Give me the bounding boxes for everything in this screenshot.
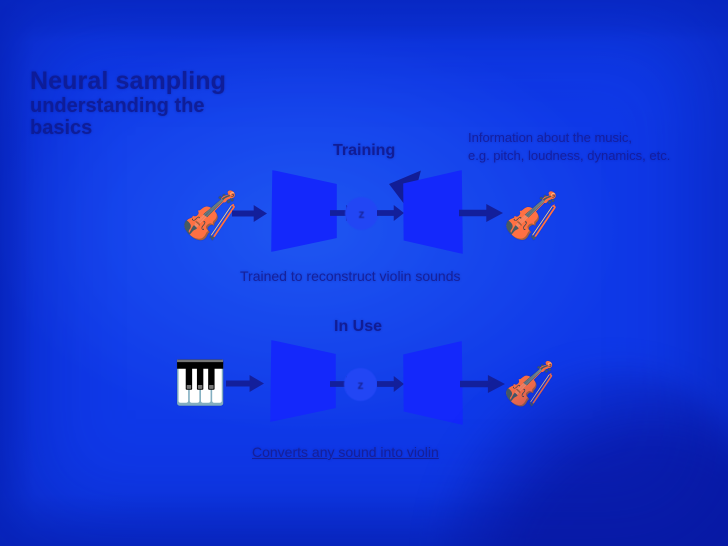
latent-z-node: z: [345, 197, 378, 230]
violin-icon: 🎻: [181, 192, 238, 238]
violin-icon: 🎻: [503, 193, 559, 238]
latent-annotation-line2: e.g. pitch, loudness, dynamics, etc.: [468, 147, 670, 165]
decoder-trapezoid: [403, 341, 463, 425]
piano-icon: 🎹: [174, 362, 226, 404]
page-title: Neural sampling: [30, 68, 245, 95]
latent-annotation-line1: Information about the music,: [468, 129, 670, 147]
decoder-trapezoid: [403, 170, 463, 254]
encoder-trapezoid: [271, 170, 337, 252]
violin-icon: 🎻: [503, 363, 555, 405]
projector-top-band: [0, 0, 728, 42]
foreground-shadow: [438, 366, 728, 546]
latent-z-node: z: [344, 368, 377, 401]
arrow-right-icon: [226, 375, 264, 392]
arrow-right-icon: [459, 204, 503, 222]
section-label-in-use: In Use: [334, 318, 382, 336]
page-subtitle: understanding the basics: [30, 96, 245, 139]
arrow-right-icon: [377, 376, 404, 392]
caption-training: Trained to reconstruct violin sounds: [240, 268, 460, 284]
encoder-trapezoid: [270, 340, 336, 422]
projector-bottom-band: [0, 494, 728, 546]
caption-in-use: Converts any sound into violin: [252, 444, 439, 460]
section-label-training: Training: [333, 142, 395, 160]
arrow-right-icon: [377, 205, 404, 221]
projector-left-band: [0, 0, 34, 546]
title-block: Neural sampling understanding the basics: [30, 68, 245, 139]
slide-photo: Neural sampling understanding the basics…: [0, 0, 728, 546]
arrow-right-icon: [460, 375, 505, 393]
latent-annotation: Information about the music, e.g. pitch,…: [468, 129, 670, 164]
